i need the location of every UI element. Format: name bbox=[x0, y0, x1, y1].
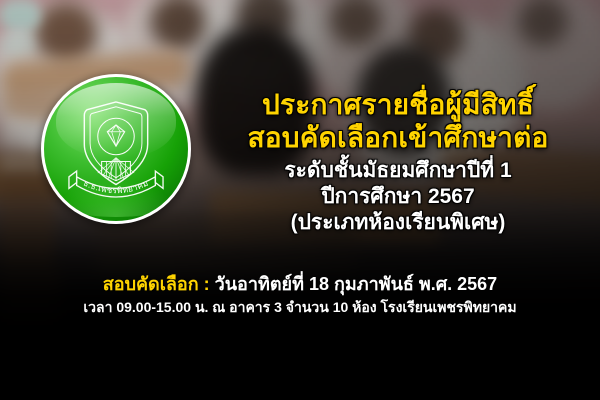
logo-circle-badge: ธ.ธ.เพชรพิทยาคม bbox=[41, 74, 191, 224]
exam-date: วันอาทิตย์ที่ 18 กุมภาพันธ์ พ.ศ. 2567 bbox=[215, 274, 498, 294]
exam-label: สอบคัดเลือก : bbox=[103, 274, 210, 294]
school-emblem-icon: ธ.ธ.เพชรพิทยาคม bbox=[44, 77, 188, 221]
headline-line-1: ประกาศรายชื่อผู้มีสิทธิ์ bbox=[196, 88, 600, 121]
headline-line-2: สอบคัดเลือกเข้าศึกษาต่อ bbox=[196, 121, 600, 154]
announcement-poster: ธ.ธ.เพชรพิทยาคม ประกาศรายชื่อผู้มีสิทธิ์… bbox=[0, 0, 600, 400]
headline-line-4: ปีการศึกษา 2567 bbox=[196, 184, 600, 210]
headline-line-3: ระดับชั้นมัธยมศึกษาปีที่ 1 bbox=[196, 158, 600, 184]
headline-block: ประกาศรายชื่อผู้มีสิทธิ์ สอบคัดเลือกเข้า… bbox=[196, 88, 600, 236]
exam-venue-line: เวลา 09.00-15.00 น. ณ อาคาร 3 จำนวน 10 ห… bbox=[14, 296, 586, 318]
headline-line-5: (ประเภทห้องเรียนพิเศษ) bbox=[196, 210, 600, 236]
exam-date-line: สอบคัดเลือก : วันอาทิตย์ที่ 18 กุมภาพันธ… bbox=[14, 272, 586, 296]
exam-details-block: สอบคัดเลือก : วันอาทิตย์ที่ 18 กุมภาพันธ… bbox=[0, 272, 600, 318]
school-logo: ธ.ธ.เพชรพิทยาคม bbox=[41, 74, 191, 224]
